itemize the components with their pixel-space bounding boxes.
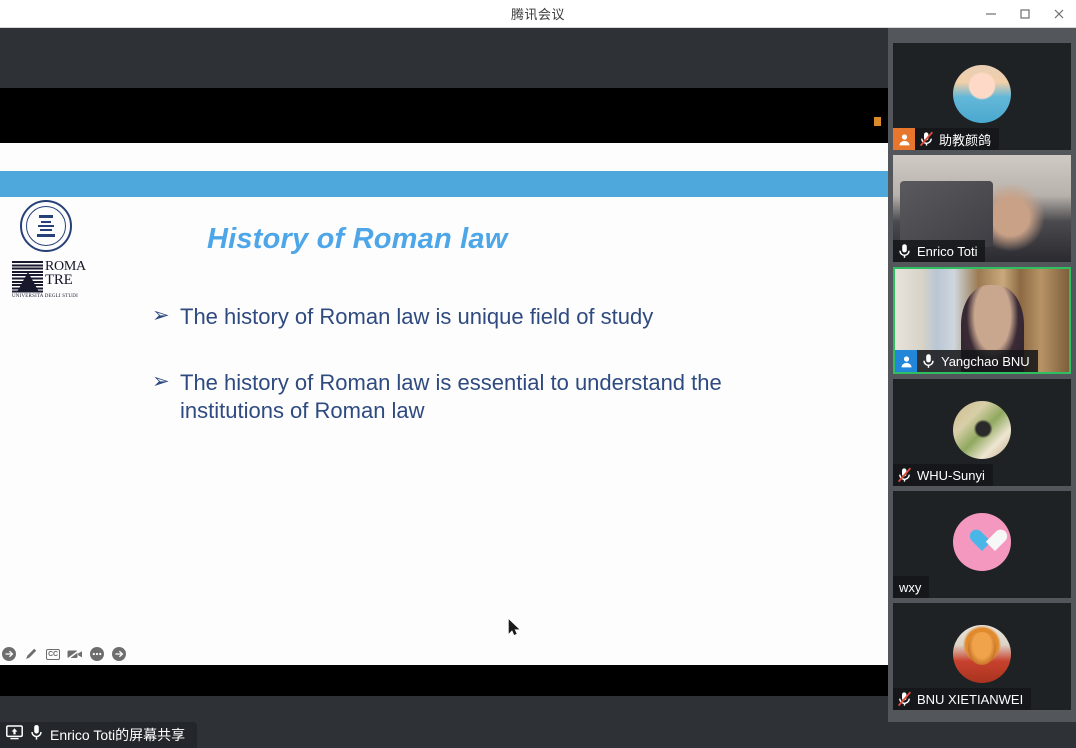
bullet-arrow-icon: ➢ [152,369,180,396]
slide-logos: ROMA TRE UNIVERSITA DEGLI STUDI [12,200,94,299]
mic-on-icon [30,724,43,746]
avatar [953,65,1011,123]
window-controls [974,0,1076,28]
screen-share-owner-label: Enrico Toti的屏幕共享 [50,725,185,745]
participant-name: 助教颜鸽 [939,130,991,149]
screen-share-status-bar: Enrico Toti的屏幕共享 [0,722,197,748]
participant-nameplate: BNU XIETIANWEI [893,688,1031,710]
bullet-arrow-icon: ➢ [152,303,180,330]
list-item: ➢ The history of Roman law is essential … [152,369,772,425]
participant-tile[interactable]: 助教颜鸽 [893,43,1071,150]
mic-muted-icon [893,464,915,486]
avatar [953,401,1011,459]
camera-off-icon[interactable] [66,645,84,663]
slide-accent-band [0,171,888,197]
mic-muted-icon [893,688,915,710]
participant-name: WHU-Sunyi [917,468,985,483]
window-title: 腾讯会议 [511,4,565,23]
heart-icon [969,530,995,554]
participant-tile-active-speaker[interactable]: Yangchao BNU [893,267,1071,374]
ellipsis-icon[interactable] [88,645,106,663]
host-badge-icon [893,128,915,150]
shared-screen-area[interactable]: ROMA TRE UNIVERSITA DEGLI STUDI History … [0,28,888,722]
participant-nameplate: Yangchao BNU [895,350,1038,372]
participant-nameplate: wxy [893,576,929,598]
minimize-icon[interactable] [974,0,1008,28]
participant-name: BNU XIETIANWEI [917,692,1023,707]
participant-tile[interactable]: WHU-Sunyi [893,379,1071,486]
orange-marker-icon [874,117,881,126]
participant-nameplate: Enrico Toti [893,240,985,262]
window-titlebar: 腾讯会议 [0,0,1076,28]
mic-on-icon [893,240,915,262]
participant-tile[interactable]: wxy [893,491,1071,598]
mic-on-icon [917,350,939,372]
cc-label: CC [46,649,60,660]
bullet-text: The history of Roman law is unique field… [180,303,740,331]
screen-share-icon [6,725,23,745]
cc-icon[interactable]: CC [44,645,62,663]
roma-tre-mark-icon [12,261,43,293]
host-badge-icon [895,350,917,372]
participant-nameplate: WHU-Sunyi [893,464,993,486]
bullet-text: The history of Roman law is essential to… [180,369,740,425]
roma-tre-logo: ROMA TRE [12,261,90,293]
arrow-right-icon[interactable] [110,645,128,663]
maximize-icon[interactable] [1008,0,1042,28]
avatar [953,625,1011,683]
participant-tile[interactable]: Enrico Toti [893,155,1071,262]
roma-tre-line2: TRE [45,274,86,288]
slide-top-strip [0,143,888,171]
annotation-toolbar[interactable]: CC [0,643,128,665]
mic-muted-icon [915,128,937,150]
avatar [953,513,1011,571]
participant-name: Yangchao BNU [941,354,1030,369]
presentation-slide: ROMA TRE UNIVERSITA DEGLI STUDI History … [0,143,888,665]
participant-nameplate: 助教颜鸽 [893,128,999,150]
participant-name: Enrico Toti [917,244,977,259]
letterbox-bottom [0,665,888,696]
letterbox-top [0,88,888,143]
pencil-icon[interactable] [22,645,40,663]
list-item: ➢ The history of Roman law is unique fie… [152,303,772,331]
close-icon[interactable] [1042,0,1076,28]
slide-bullet-list: ➢ The history of Roman law is unique fie… [152,303,772,463]
participant-tile[interactable]: BNU XIETIANWEI [893,603,1071,710]
roma-tre-subtitle: UNIVERSITA DEGLI STUDI [12,294,94,299]
slide-title: History of Roman law [207,223,508,256]
participant-sidebar[interactable]: 助教颜鸽 Enrico Toti [888,28,1076,722]
meeting-body: ROMA TRE UNIVERSITA DEGLI STUDI History … [0,28,1076,722]
beijing-normal-university-logo [20,200,72,252]
mouse-cursor-icon [508,619,520,636]
participant-name: wxy [899,580,921,595]
pointer-icon[interactable] [0,645,18,663]
